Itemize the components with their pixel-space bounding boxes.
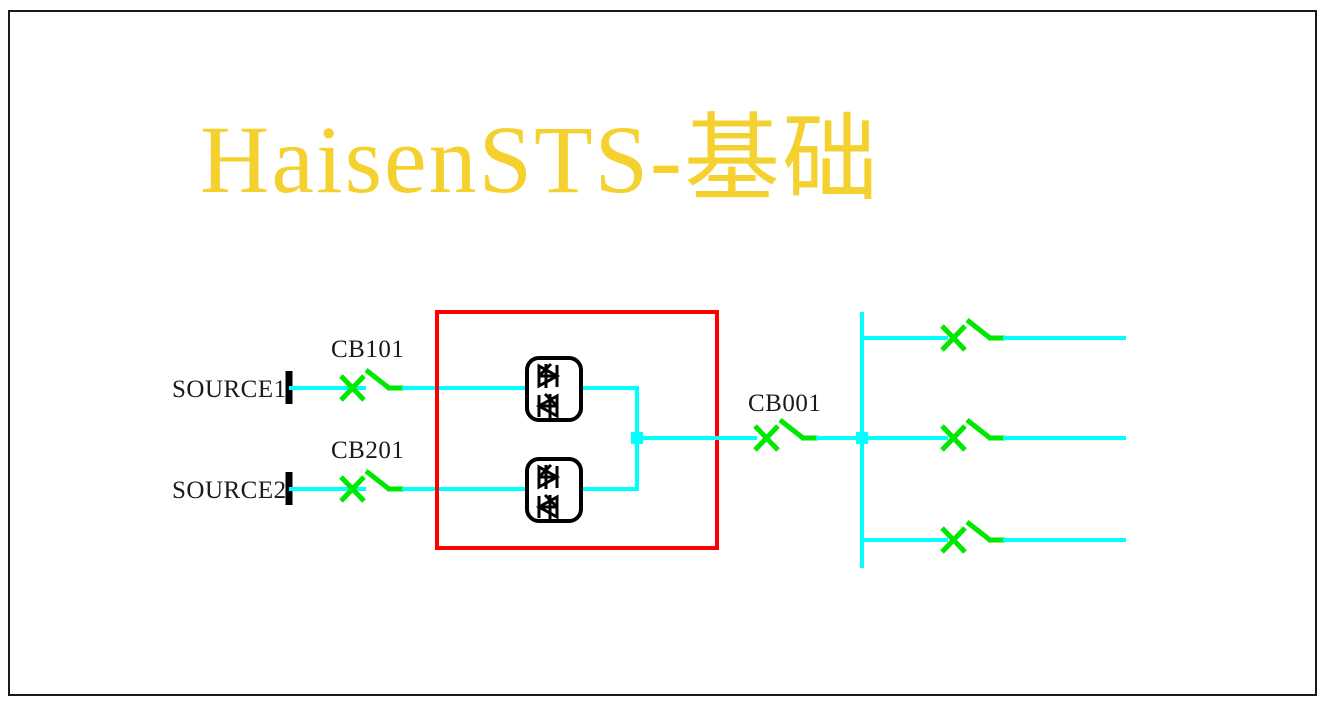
feeder-switch-1[interactable]: [942, 320, 1005, 350]
breaker-cb101[interactable]: [341, 370, 404, 400]
breaker-cb201[interactable]: [341, 471, 404, 501]
scr-module-2[interactable]: [527, 459, 581, 521]
scr-module-1[interactable]: [527, 358, 581, 420]
breaker-label-cb101: CB101: [331, 336, 404, 363]
feeder-switch-2[interactable]: [942, 420, 1005, 450]
source-label-source1: SOURCE1: [172, 376, 287, 403]
feeder-switch-3[interactable]: [942, 522, 1005, 552]
page-title: HaisenSTS-基础: [200, 106, 880, 213]
single-line-diagram-canvas: HaisenSTS-基础 SOURCE1 CB101 SOURCE2 CB201: [0, 0, 1327, 712]
source-label-source2: SOURCE2: [172, 477, 287, 504]
breaker-cb001[interactable]: [755, 420, 818, 450]
breaker-label-cb001: CB001: [748, 390, 821, 417]
breaker-label-cb201: CB201: [331, 437, 404, 464]
diagram-svg: HaisenSTS-基础 SOURCE1 CB101 SOURCE2 CB201: [0, 0, 1327, 712]
